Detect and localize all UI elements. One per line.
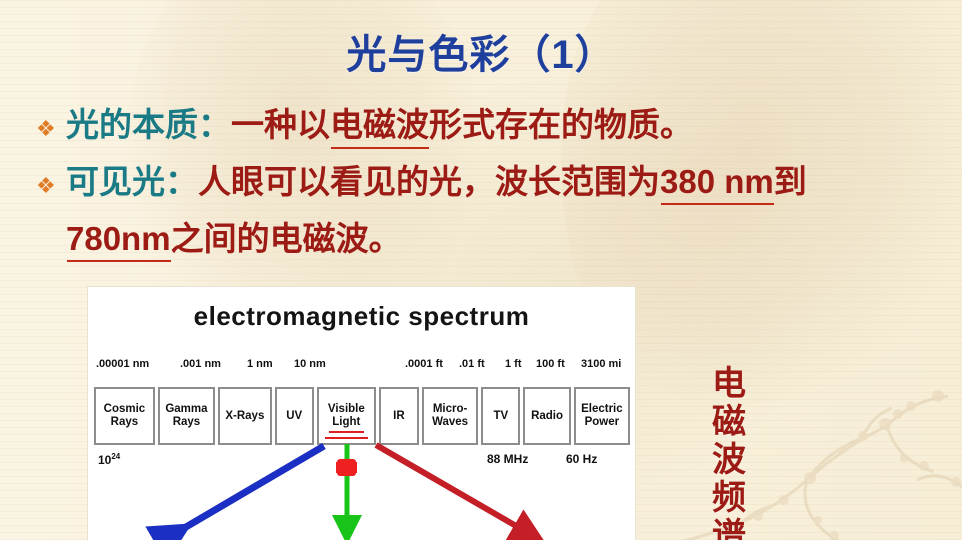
bullet-marker-icon: ❖ bbox=[36, 161, 66, 213]
visible-light-underline-2 bbox=[325, 437, 368, 439]
spectrum-band-uv: UV bbox=[275, 387, 314, 445]
spectrum-band-ir: IR bbox=[379, 387, 419, 445]
scale-label-right-1: .01 ft bbox=[459, 358, 485, 370]
spectrum-arrows bbox=[88, 442, 635, 540]
spectrum-band-x-rays: X-Rays bbox=[218, 387, 272, 445]
spectrum-band-radio: Radio bbox=[523, 387, 570, 445]
bullet-2-underlined-value-max: 780nm bbox=[66, 220, 171, 257]
side-caption-char-0: 电 bbox=[706, 366, 752, 404]
scale-label-right-3: 100 ft bbox=[536, 358, 565, 370]
bullet-2-label: 可见光： bbox=[66, 165, 198, 201]
scale-label-left-2: 1 nm bbox=[247, 358, 273, 370]
scale-label-right-0: .0001 ft bbox=[405, 358, 443, 370]
spectrum-band-list: Cosmic Rays Gamma Rays X-Rays UV Visible… bbox=[94, 387, 630, 445]
bullet-2-text-before: 人眼可以看见的光，波长范围为 bbox=[198, 165, 660, 201]
side-caption-char-1: 磁 bbox=[706, 404, 752, 442]
electromagnetic-spectrum-image: electromagnetic spectrum .00001 nm .001 … bbox=[88, 287, 635, 540]
arrow-blue bbox=[174, 446, 324, 534]
bullet-item-1: ❖光的本质：一种以电磁波形式存在的物质。 bbox=[36, 100, 936, 156]
bullet-1-label: 光的本质： bbox=[66, 108, 231, 144]
bullet-2-continuation-text: 之间的电磁波。 bbox=[171, 222, 402, 258]
scale-label-left-0: .00001 nm bbox=[96, 358, 149, 370]
bullet-1-underlined-term: 电磁波 bbox=[330, 108, 429, 144]
spectrum-band-cosmic-rays: Cosmic Rays bbox=[94, 387, 155, 445]
spectrum-band-tv: TV bbox=[481, 387, 520, 445]
spectrum-band-electric-power: Electric Power bbox=[574, 387, 630, 445]
arrow-red bbox=[376, 445, 530, 534]
bullet-marker-icon: ❖ bbox=[36, 104, 66, 156]
bullet-2-text-after: 到 bbox=[774, 165, 807, 201]
spectrum-band-gamma-rays: Gamma Rays bbox=[158, 387, 215, 445]
body-content: ❖光的本质：一种以电磁波形式存在的物质。 ❖可见光：人眼可以看见的光，波长范围为… bbox=[36, 100, 936, 266]
spectrum-band-visible-light-label: Visible Light bbox=[319, 403, 374, 429]
scale-label-right-4: 3100 mi bbox=[581, 358, 621, 370]
bullet-item-2-continuation: 780nm之间的电磁波。 bbox=[36, 213, 936, 266]
visible-light-underline bbox=[329, 431, 364, 433]
page-title: 光与色彩（1） bbox=[0, 22, 962, 80]
bullet-1-text-after: 形式存在的物质。 bbox=[429, 108, 693, 144]
spectrum-title: electromagnetic spectrum bbox=[88, 301, 635, 332]
bullet-item-2: ❖可见光：人眼可以看见的光，波长范围为380 nm到 bbox=[36, 156, 936, 213]
slide-canvas: 光与色彩（1） ❖光的本质：一种以电磁波形式存在的物质。 ❖可见光：人眼可以看见… bbox=[0, 0, 962, 540]
scale-label-left-3: 10 nm bbox=[294, 358, 326, 370]
visible-light-marker-icon bbox=[337, 459, 356, 476]
side-caption-vertical: 电 磁 波 频 谱 bbox=[706, 366, 752, 540]
spectrum-scale-labels: .00001 nm .001 nm 1 nm 10 nm .0001 ft .0… bbox=[88, 358, 635, 378]
bullet-2-underlined-value-min: 380 nm bbox=[660, 163, 774, 200]
side-caption-char-4: 谱 bbox=[706, 518, 752, 540]
bullet-1-text-before: 一种以 bbox=[231, 108, 330, 144]
scale-label-right-2: 1 ft bbox=[505, 358, 522, 370]
scale-label-left-1: .001 nm bbox=[180, 358, 221, 370]
side-caption-char-2: 波 bbox=[706, 442, 752, 480]
spectrum-band-visible-light: Visible Light bbox=[317, 387, 376, 445]
spectrum-band-microwaves: Micro-Waves bbox=[422, 387, 478, 445]
side-caption-char-3: 频 bbox=[706, 480, 752, 518]
